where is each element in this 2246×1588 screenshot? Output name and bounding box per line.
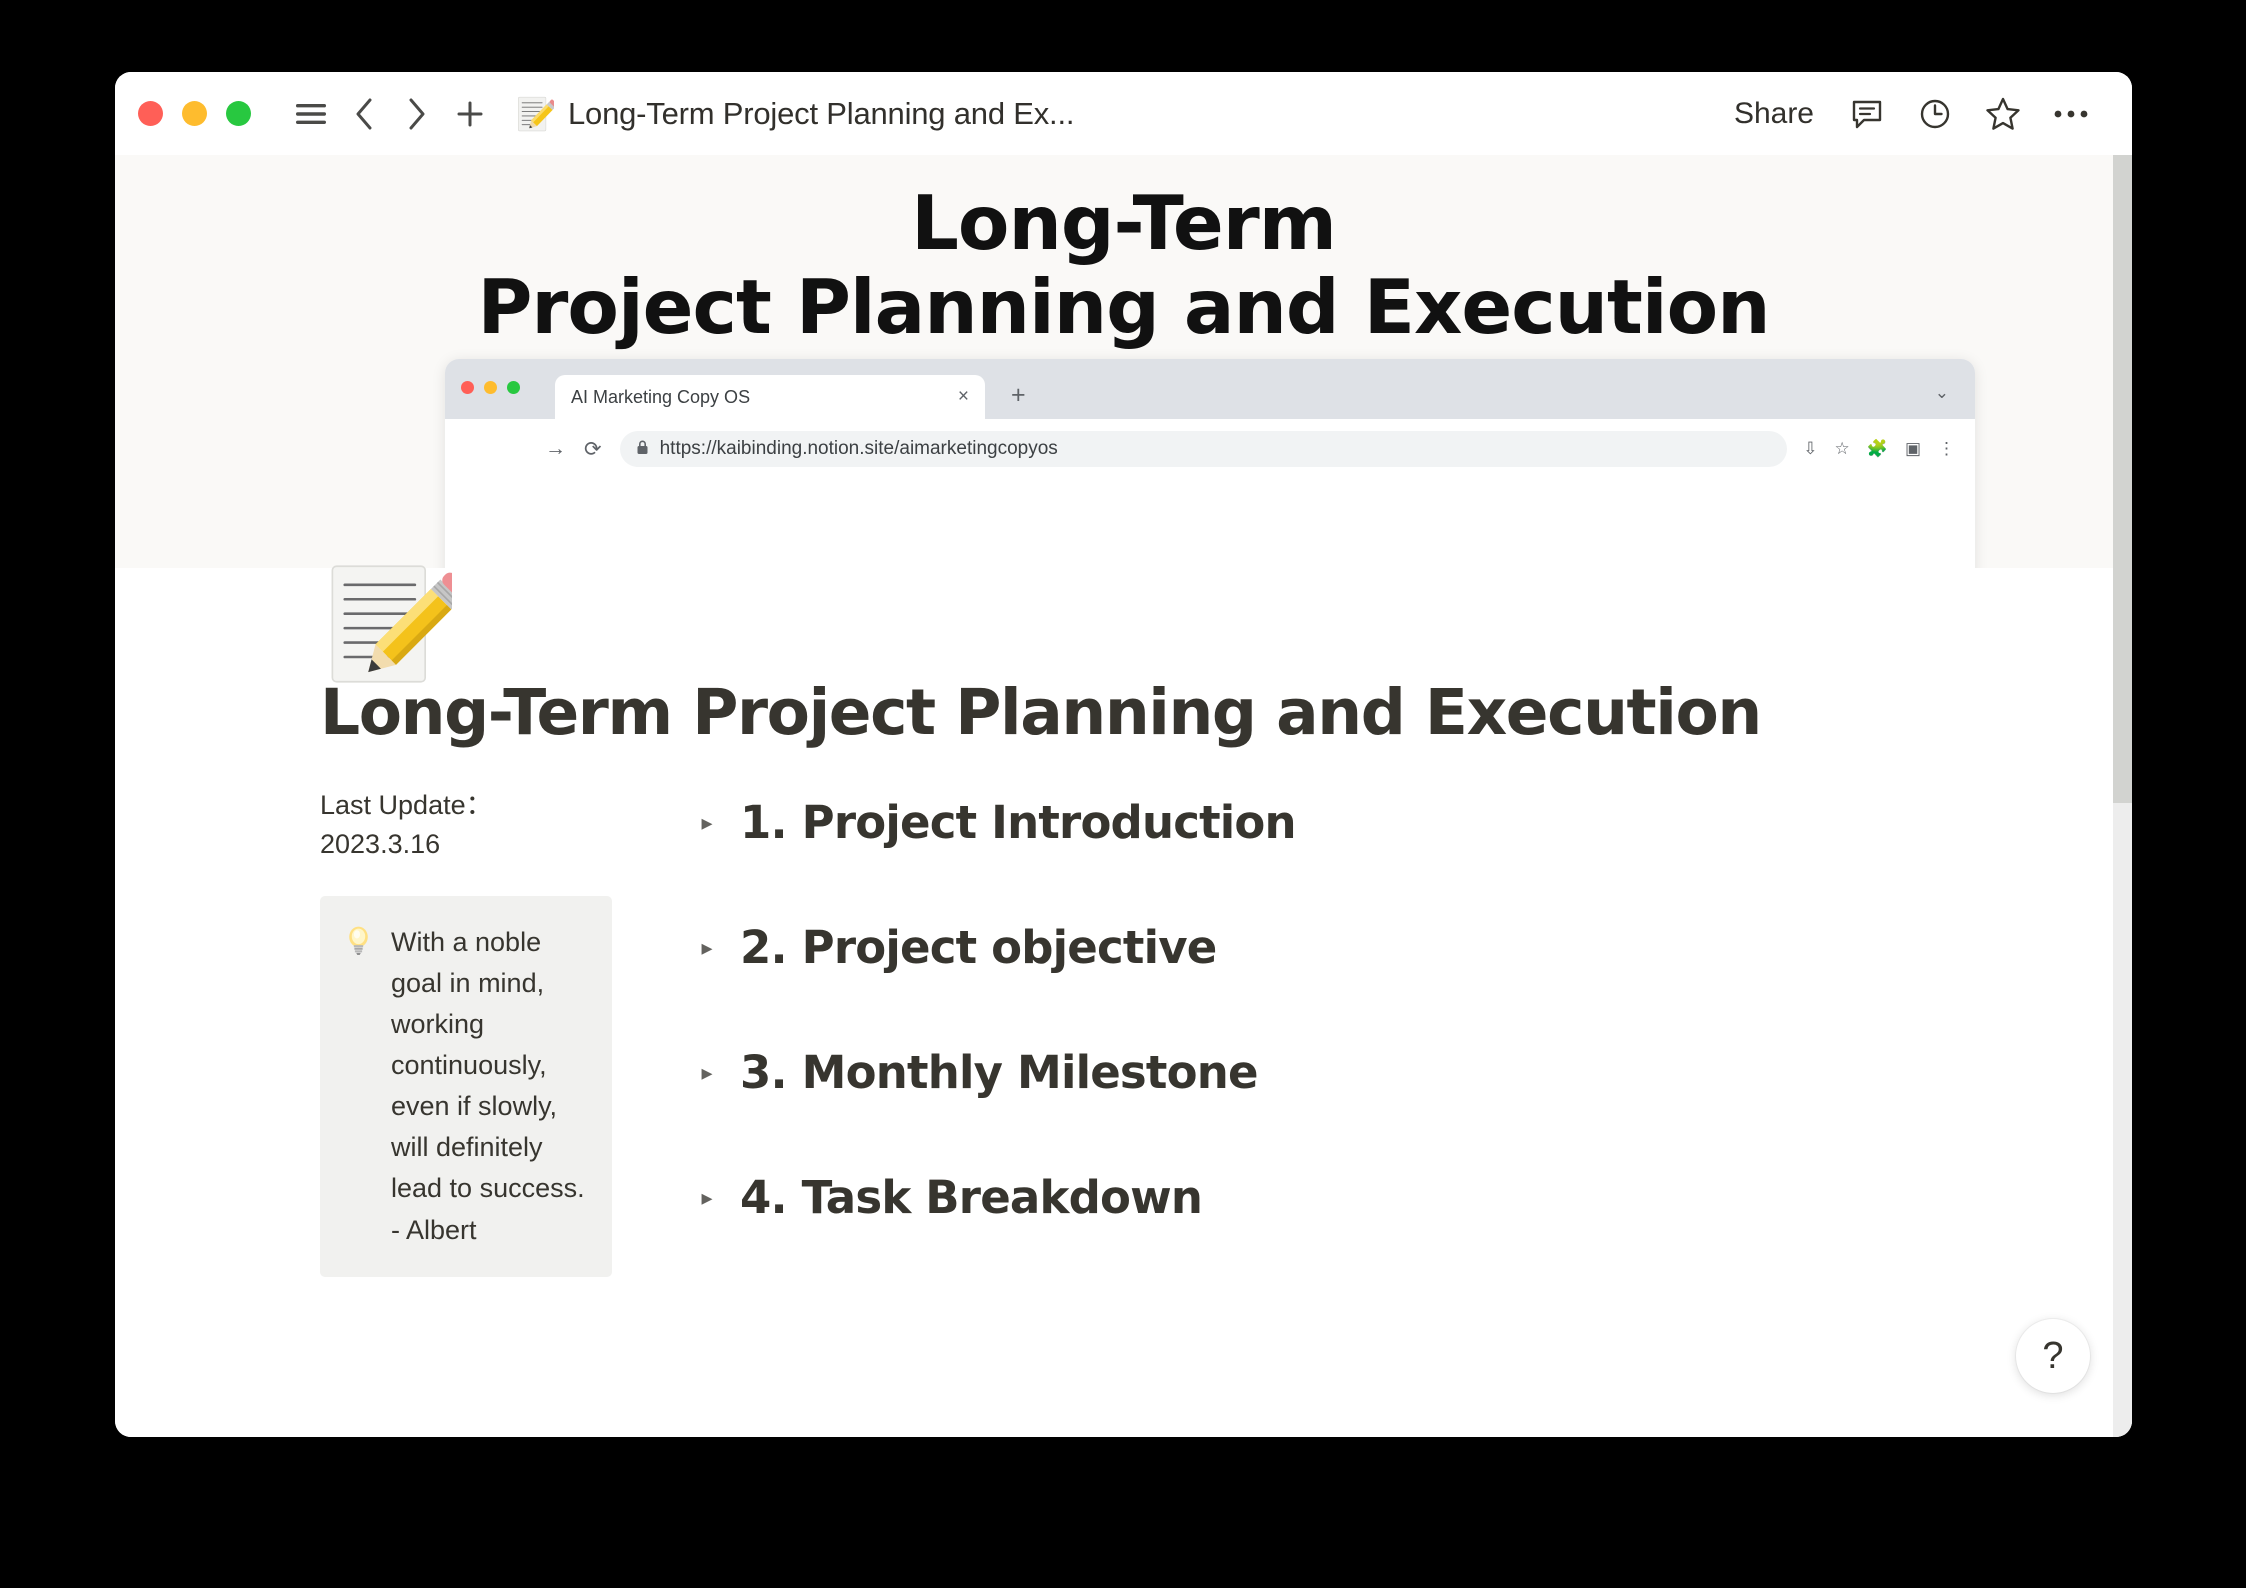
- page-memo-emoji-icon[interactable]: [320, 558, 452, 690]
- close-window-button[interactable]: [138, 101, 163, 126]
- mockup-bookmark-star-icon: ☆: [1835, 439, 1850, 459]
- cover-browser-mockup: AI Marketing Copy OS × + ⌄ → ⟳: [445, 359, 1975, 568]
- memo-emoji: [514, 94, 554, 134]
- toggle-heading-project-objective[interactable]: ▸ 2. Project objective: [696, 921, 2132, 974]
- toggle-arrow-icon[interactable]: ▸: [696, 1062, 718, 1084]
- titlebar-actions: Share: [1718, 83, 2132, 145]
- page-title[interactable]: Long-Term Project Planning and Execution: [320, 676, 1761, 749]
- favorite-star-icon[interactable]: [1972, 83, 2034, 145]
- mockup-url-bar: → ⟳ https://kaibinding.notion.site/aimar…: [445, 419, 1975, 479]
- light-bulb-emoji-icon: [342, 924, 375, 957]
- vertical-scrollbar-thumb[interactable]: [2113, 155, 2132, 803]
- mockup-extensions-icon: 🧩: [1867, 439, 1888, 459]
- last-update-label: Last Update：: [320, 786, 612, 825]
- cover-title-line-1: Long-Term: [911, 179, 1336, 267]
- cover-title: Long-Term Project Planning and Execution: [115, 181, 2132, 349]
- forward-icon[interactable]: [390, 87, 443, 140]
- traffic-light-controls: [138, 101, 251, 126]
- document-title-breadcrumb[interactable]: Long-Term Project Planning and Ex...: [514, 94, 1074, 134]
- mockup-browser-actions: ⇩ ☆ 🧩 ▣ ⋮: [1803, 439, 1955, 459]
- toggle-label: 4. Task Breakdown: [740, 1171, 1202, 1224]
- toggle-heading-project-introduction[interactable]: ▸ 1. Project Introduction: [696, 796, 2132, 849]
- notion-app-window: Long-Term Project Planning and Ex... Sha…: [115, 72, 2132, 1437]
- comment-icon[interactable]: [1836, 83, 1898, 145]
- mockup-tab-title: AI Marketing Copy OS: [571, 387, 946, 408]
- mockup-tab-close-icon: ×: [958, 386, 969, 408]
- toggle-arrow-icon[interactable]: ▸: [696, 937, 718, 959]
- new-page-icon[interactable]: [443, 87, 496, 140]
- toggle-label: 1. Project Introduction: [740, 796, 1296, 849]
- two-column-layout: Last Update： 2023.3.16 With a noble: [115, 786, 2132, 1296]
- last-update-value: 2023.3.16: [320, 825, 612, 864]
- page-cover-image[interactable]: Long-Term Project Planning and Execution…: [115, 155, 2132, 568]
- toggle-arrow-icon[interactable]: ▸: [696, 812, 718, 834]
- share-button[interactable]: Share: [1718, 89, 1830, 139]
- page-scroll-area: Long-Term Project Planning and Execution…: [115, 155, 2132, 1437]
- toggle-arrow-icon[interactable]: ▸: [696, 1187, 718, 1209]
- more-options-icon[interactable]: [2040, 83, 2102, 145]
- mockup-lock-icon: [636, 440, 649, 459]
- cover-title-line-2: Project Planning and Execution: [235, 265, 2012, 349]
- mockup-url-text: https://kaibinding.notion.site/aimarketi…: [660, 438, 1058, 460]
- callout-text: With a noble goal in mind, working conti…: [391, 922, 590, 1250]
- maximize-window-button[interactable]: [226, 101, 251, 126]
- right-column: ▸ 1. Project Introduction ▸ 2. Project o…: [696, 786, 2132, 1296]
- callout-block[interactable]: With a noble goal in mind, working conti…: [320, 896, 612, 1276]
- mockup-omnibox: https://kaibinding.notion.site/aimarketi…: [620, 431, 1788, 467]
- toggle-label: 2. Project objective: [740, 921, 1217, 974]
- minimize-window-button[interactable]: [182, 101, 207, 126]
- navigation-controls: [284, 87, 496, 140]
- toggle-label: 3. Monthly Milestone: [740, 1046, 1258, 1099]
- mockup-browser-tab: AI Marketing Copy OS ×: [555, 375, 985, 419]
- sidebar-toggle-icon[interactable]: [284, 87, 337, 140]
- mockup-forward-icon: →: [545, 437, 566, 461]
- history-icon[interactable]: [1904, 83, 1966, 145]
- mockup-tab-strip: AI Marketing Copy OS × + ⌄: [445, 359, 1975, 419]
- back-icon[interactable]: [337, 87, 390, 140]
- window-titlebar: Long-Term Project Planning and Ex... Sha…: [115, 72, 2132, 155]
- document-title-text: Long-Term Project Planning and Ex...: [568, 96, 1074, 132]
- help-button[interactable]: ?: [2016, 1319, 2090, 1393]
- mockup-reload-icon: ⟳: [584, 437, 602, 462]
- mockup-new-tab-icon: +: [1011, 381, 1026, 410]
- mockup-sidepanel-icon: ▣: [1905, 439, 1921, 459]
- vertical-scrollbar-track[interactable]: [2113, 155, 2132, 1437]
- toggle-heading-monthly-milestone[interactable]: ▸ 3. Monthly Milestone: [696, 1046, 2132, 1099]
- mockup-menu-icon: ⋮: [1938, 439, 1955, 459]
- mockup-tab-list-chevron-icon: ⌄: [1935, 383, 1949, 403]
- mockup-download-icon: ⇩: [1803, 439, 1817, 459]
- toggle-heading-task-breakdown[interactable]: ▸ 4. Task Breakdown: [696, 1171, 2132, 1224]
- mockup-traffic-lights: [461, 381, 520, 394]
- left-column: Last Update： 2023.3.16 With a noble: [320, 786, 612, 1277]
